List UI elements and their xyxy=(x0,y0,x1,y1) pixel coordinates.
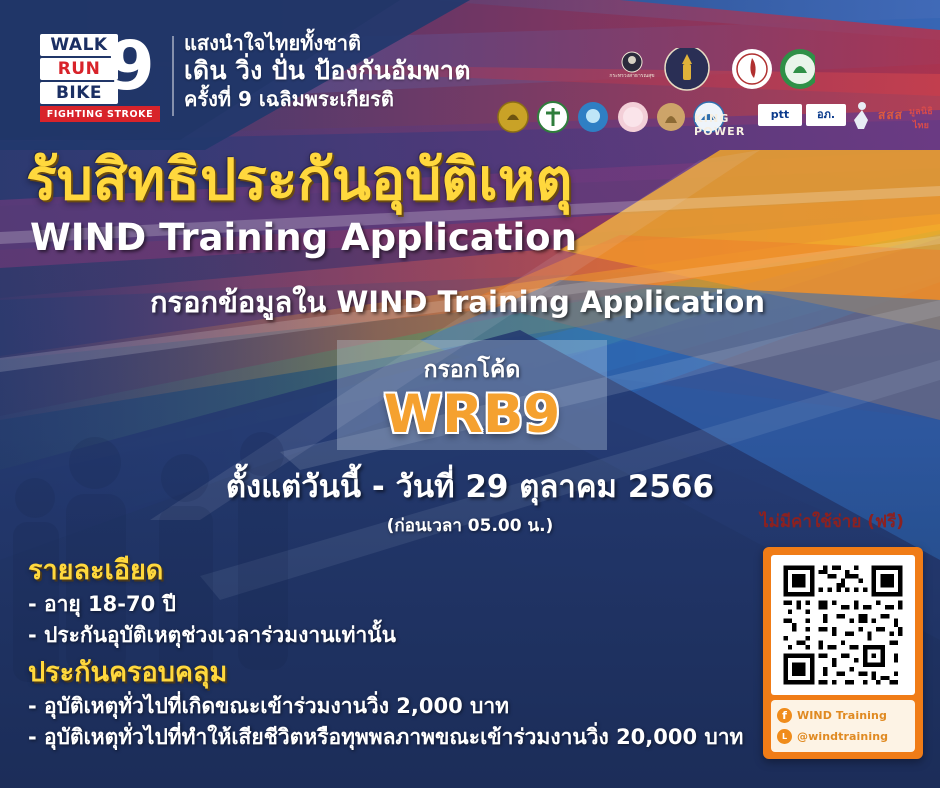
header-divider xyxy=(172,36,174,116)
facebook-icon: f xyxy=(777,708,792,723)
slogan-line-1: แสงนำใจไทยทั้งชาติ xyxy=(184,30,471,56)
coverage-item: - อุบัติเหตุทั่วไปที่เกิดขณะเข้าร่วมงานว… xyxy=(28,691,768,722)
details-section: รายละเอียด - อายุ 18-70 ปี - ประกันอุบัต… xyxy=(28,553,768,753)
date-range: ตั้งแต่วันนี้ - วันที่ 29 ตุลาคม 2566 xyxy=(0,467,940,507)
header: WALK RUN BIKE 9 FIGHTING STROKE แสงนำใจไ… xyxy=(0,0,940,140)
logo-tagline: FIGHTING STROKE xyxy=(40,106,160,122)
event-logo: WALK RUN BIKE 9 FIGHTING STROKE xyxy=(38,32,163,122)
sss-logo: สสส xyxy=(878,106,903,125)
details-title: รายละเอียด xyxy=(28,553,768,589)
sponsor-top-label-1: กระทรวงสาธารณสุข xyxy=(602,72,662,80)
social-links: f WIND Training L @windtraining xyxy=(771,700,915,752)
slogan-line-2: เดิน วิ่ง ปั่น ป้องกันอัมพาต xyxy=(184,56,471,86)
poster: WALK RUN BIKE 9 FIGHTING STROKE แสงนำใจไ… xyxy=(0,0,940,788)
coverage-title: ประกันครอบคลุม xyxy=(28,655,768,691)
qr-code[interactable] xyxy=(771,555,915,695)
ptt-logo-text: ptt xyxy=(758,104,802,126)
king-power-logo: KING POWER xyxy=(694,112,746,138)
facebook-name: WIND Training xyxy=(797,709,887,722)
qr-panel[interactable]: f WIND Training L @windtraining xyxy=(763,547,923,759)
facebook-row[interactable]: f WIND Training xyxy=(777,705,909,726)
promo-code-value: WRB9 xyxy=(337,386,607,444)
details-item: - ประกันอุบัติเหตุช่วงเวลาร่วมงานเท่านั้… xyxy=(28,620,768,651)
line-icon: L xyxy=(777,729,792,744)
free-label: ไม่มีค่าใช้จ่าย (ฟรี) xyxy=(742,510,922,534)
logo-nine: 9 xyxy=(100,32,162,106)
gpo-logo-text: อภ. xyxy=(806,104,846,126)
line-row[interactable]: L @windtraining xyxy=(777,726,909,747)
app-name: WIND Training Application xyxy=(30,216,577,260)
page-title: รับสิทธิประกันอุบัติเหตุ xyxy=(26,148,572,212)
details-item: - อายุ 18-70 ปี xyxy=(28,589,768,620)
subheading: กรอกข้อมูลใน WIND Training Application xyxy=(150,283,765,321)
event-slogan: แสงนำใจไทยทั้งชาติ เดิน วิ่ง ปั่น ป้องกั… xyxy=(184,30,471,113)
code-label: กรอกโค้ด xyxy=(337,352,607,388)
ptt-logo: ptt xyxy=(758,104,802,126)
slogan-line-3: ครั้งที่ 9 เฉลิมพระเกียรติ xyxy=(184,86,471,113)
coverage-item: - อุบัติเหตุทั่วไปที่ทำให้เสียชีวิตหรือท… xyxy=(28,722,768,753)
line-name: @windtraining xyxy=(797,730,888,743)
thai-health-person-logo xyxy=(852,100,872,130)
gpo-logo: อภ. xyxy=(806,104,846,126)
foundation-logo: มูลนิธิไทย xyxy=(902,104,940,132)
